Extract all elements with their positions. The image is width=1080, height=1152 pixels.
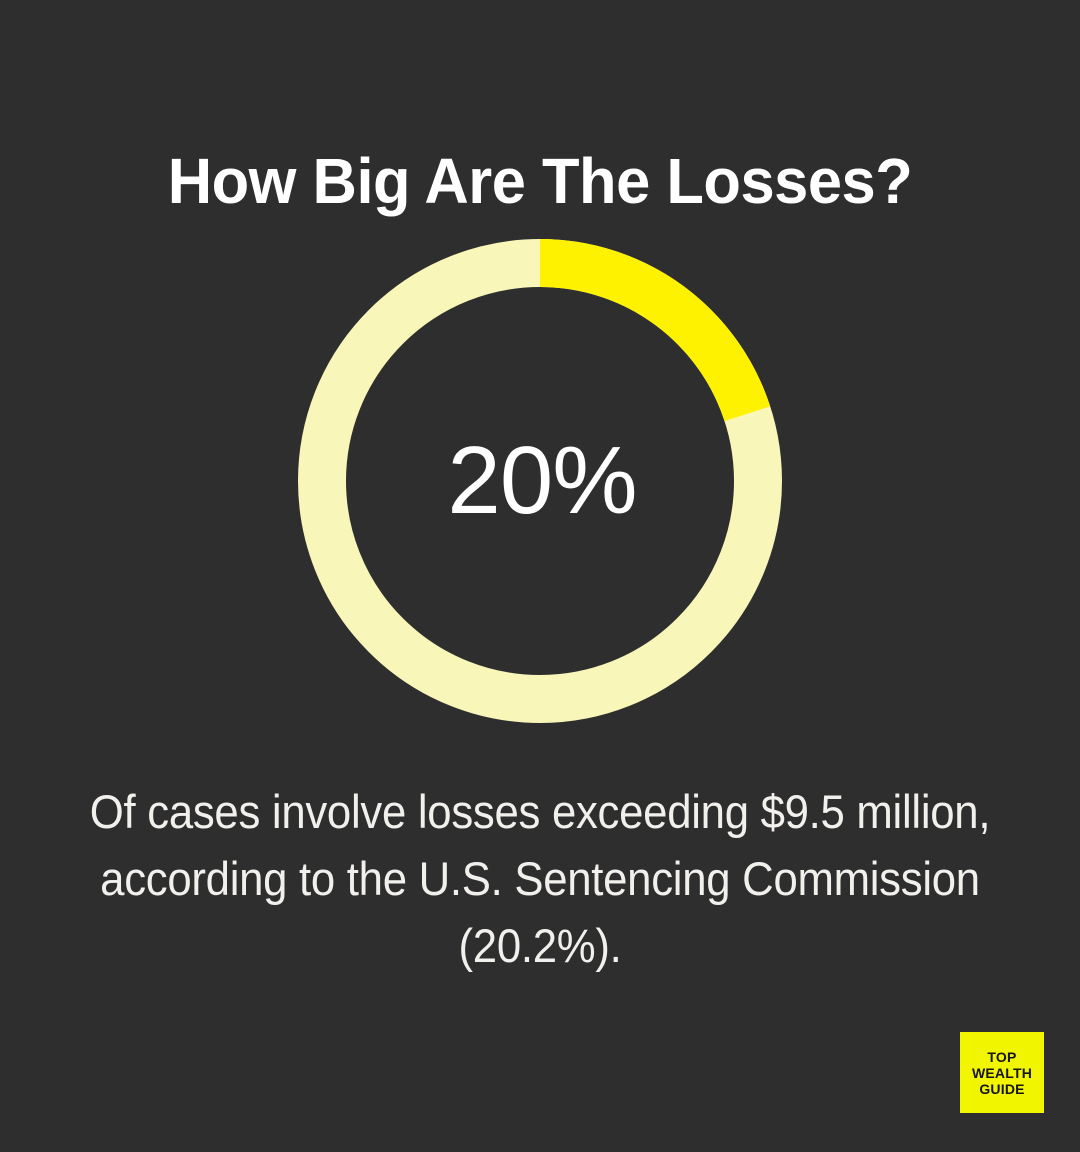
infographic-canvas: How Big Are The Losses? 20% Of cases inv… xyxy=(0,0,1080,1152)
logo-line-top: TOP xyxy=(987,1049,1016,1065)
page-title: How Big Are The Losses? xyxy=(22,139,1059,223)
caption-line-1: Of cases involve losses exceeding $9.5 m… xyxy=(69,778,1010,845)
logo-line-guide: GUIDE xyxy=(979,1081,1024,1097)
caption-block: Of cases involve losses exceeding $9.5 m… xyxy=(69,778,1010,979)
brand-logo-badge: TOP WEALTH GUIDE xyxy=(960,1032,1044,1113)
donut-center-value: 20% xyxy=(298,239,782,723)
caption-line-3: (20.2%). xyxy=(69,912,1010,979)
logo-line-wealth: WEALTH xyxy=(972,1065,1032,1081)
donut-chart: 20% xyxy=(298,239,782,723)
caption-line-2: according to the U.S. Sentencing Commiss… xyxy=(69,845,1010,912)
